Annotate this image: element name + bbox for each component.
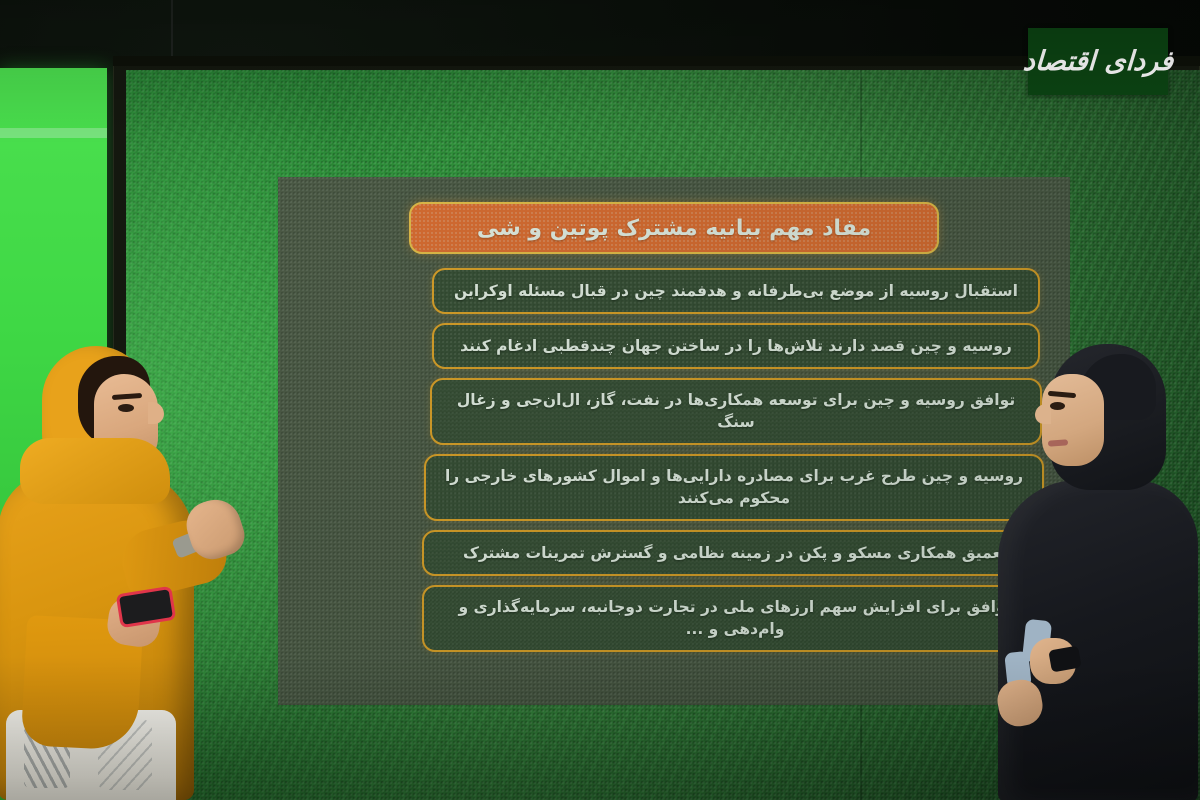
slide-title: مفاد مهم بیانیه مشترک پوتین و شی bbox=[409, 202, 939, 254]
slide-bullet-item: روسیه و چین طرح غرب برای مصادره دارایی‌ه… bbox=[424, 454, 1044, 521]
slide-bullet-item: روسیه و چین قصد دارند تلاش‌ها را در ساخت… bbox=[432, 323, 1040, 369]
slide-bullet-item: توافق برای افزایش سهم ارزهای ملی در تجار… bbox=[422, 585, 1048, 652]
slide-bullet-item: استقبال روسیه از موضع بی‌طرفانه و هدفمند… bbox=[432, 268, 1040, 314]
slide-bullet-item: توافق روسیه و چین برای توسعه همکاری‌ها د… bbox=[430, 378, 1042, 445]
channel-logo-text: فردای اقتصاد bbox=[1022, 48, 1174, 75]
slide-bullet-item: تعمیق همکاری مسکو و پکن در زمینه نظامی و… bbox=[422, 530, 1048, 576]
studio-scene: مفاد مهم بیانیه مشترک پوتین و شی استقبال… bbox=[0, 0, 1200, 800]
slide-bullet-list: استقبال روسیه از موضع بی‌طرفانه و هدفمند… bbox=[304, 268, 1044, 652]
presentation-slide: مفاد مهم بیانیه مشترک پوتین و شی استقبال… bbox=[278, 177, 1070, 705]
channel-logo: فردای اقتصاد bbox=[1028, 28, 1168, 95]
green-chroma-wall bbox=[0, 68, 107, 800]
chroma-wall-highlight-strip bbox=[0, 128, 107, 138]
ceiling-cable bbox=[171, 0, 173, 58]
